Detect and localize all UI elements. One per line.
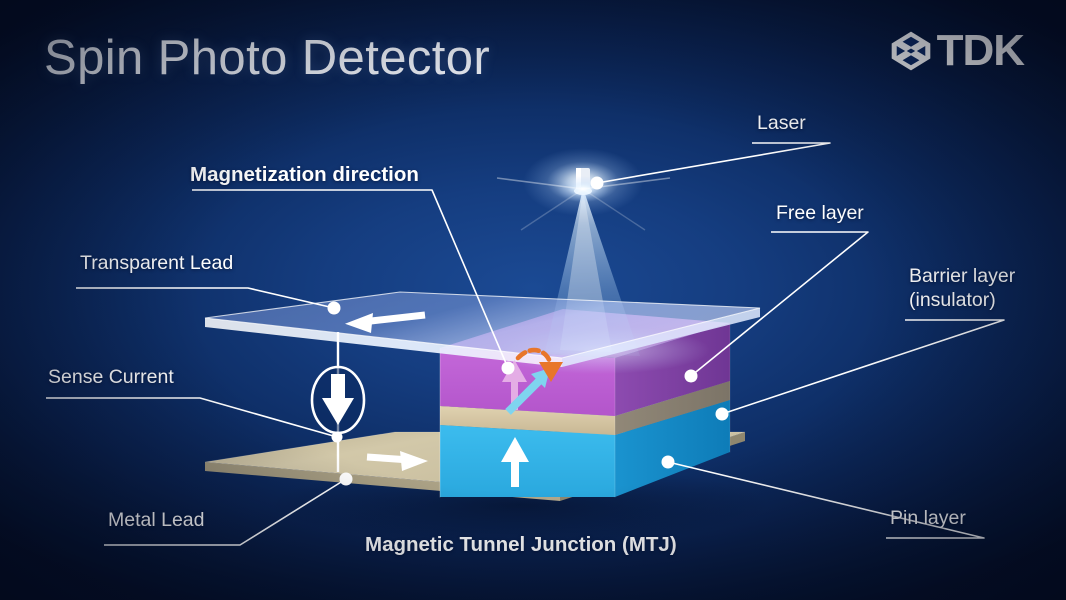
transparent-lead-current-arrow [345, 313, 425, 333]
block-edge-highlights [440, 323, 730, 497]
dot-transparent-lead [328, 302, 341, 315]
page-title: Spin Photo Detector [44, 30, 490, 86]
metal-lead-plate [205, 432, 745, 501]
free-layer-block [440, 309, 730, 416]
label-barrier-layer-line2: (insulator) [909, 289, 996, 311]
leader-laser [597, 143, 830, 183]
dot-sense-current [332, 432, 343, 443]
dot-pin-layer [662, 456, 675, 469]
rotation-indicator-arrow [518, 350, 563, 382]
label-pin-layer: Pin layer [890, 507, 966, 531]
label-barrier-layer: Barrier layer (insulator) [909, 265, 1015, 313]
leader-sense-current [46, 398, 337, 437]
transparent-lead-front-edge [205, 318, 562, 367]
dot-metal-lead [340, 473, 353, 486]
laser-core-beam [560, 190, 612, 352]
tdk-diamond-mark-icon [890, 30, 932, 72]
tdk-logo: TDK [890, 29, 1024, 73]
leader-transparent-lead [76, 288, 334, 308]
label-metal-lead: Metal Lead [108, 509, 204, 533]
dot-laser [591, 177, 604, 190]
transparent-lead-outline [205, 292, 760, 358]
leader-free-layer [691, 232, 868, 376]
leader-magnetization-direction [192, 190, 508, 368]
spin-photo-detector-infographic: Spin Photo Detector TDK Magnetization di… [0, 0, 1066, 600]
dot-free-layer [685, 370, 698, 383]
laser-light-cone [545, 188, 640, 356]
sense-current-down-arrow [322, 398, 354, 425]
pin-layer-block [440, 386, 730, 497]
label-barrier-layer-line1: Barrier layer [909, 265, 1015, 287]
sense-current-symbol [312, 332, 364, 472]
label-magnetization-direction: Magnetization direction [190, 162, 419, 187]
laser-emitter [497, 148, 670, 230]
dot-barrier-layer [716, 408, 729, 421]
label-sense-current: Sense Current [48, 366, 174, 390]
label-mtj-caption: Magnetic Tunnel Junction (MTJ) [365, 532, 677, 557]
beam-pool-glow [490, 326, 710, 374]
label-transparent-lead: Transparent Lead [80, 252, 233, 276]
transparent-lead-light-sheen [205, 292, 760, 358]
barrier-layer-block [440, 367, 730, 435]
leader-endpoint-dots [328, 177, 729, 486]
leader-barrier-layer [722, 320, 1004, 414]
free-layer-rotated-magnetization-arrow [508, 368, 550, 412]
tdk-logo-wordmark: TDK [937, 29, 1024, 73]
metal-lead-current-arrow [367, 451, 428, 471]
free-layer-initial-magnetization-arrow [502, 360, 527, 410]
pin-layer-magnetization-arrow [501, 437, 529, 487]
label-free-layer: Free layer [776, 202, 864, 226]
dot-magnetization-direction [502, 362, 515, 375]
label-laser: Laser [757, 112, 806, 136]
current-source-circle [312, 367, 364, 433]
transparent-lead-top-face [205, 292, 760, 358]
transparent-lead-right-edge [562, 308, 760, 367]
